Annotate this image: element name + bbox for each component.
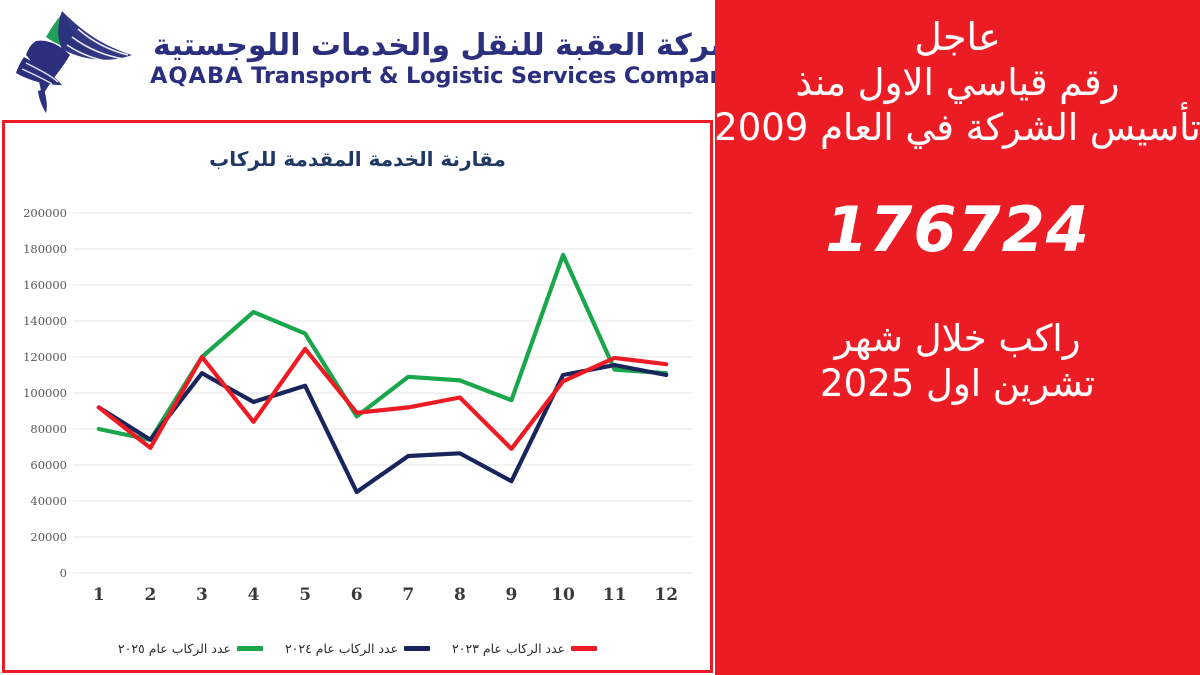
y-axis-tick-label: 60000 (5, 458, 67, 472)
headline-line-2: تأسيس الشركة في العام 2009 (714, 105, 1200, 150)
chart-plot-area: 2000001800001600001400001200001000008000… (5, 123, 710, 670)
chart-legend: عدد الركاب عام ٢٠٢٥عدد الركاب عام ٢٠٢٤عد… (5, 641, 710, 656)
urgent-label: عاجل (914, 14, 1001, 60)
brand-wordmark: شركة العقبة للنقل والخدمات اللوجستية AQA… (150, 31, 754, 88)
y-axis-tick-label: 40000 (5, 494, 67, 508)
legend-swatch-icon (237, 646, 263, 651)
x-axis-tick-label: 8 (440, 585, 480, 605)
y-axis-tick-label: 20000 (5, 530, 67, 544)
record-number: 176724 (825, 193, 1090, 266)
headline-line-1: رقم قياسي الاول منذ (796, 60, 1120, 105)
x-axis-tick-label: 2 (130, 585, 170, 605)
x-axis-tick-label: 4 (234, 585, 274, 605)
x-axis-tick-label: 3 (182, 585, 222, 605)
legend-item-0[interactable]: عدد الركاب عام ٢٠٢٥ (118, 641, 263, 656)
brand-header: شركة العقبة للنقل والخدمات اللوجستية AQA… (0, 0, 715, 118)
legend-label: عدد الركاب عام ٢٠٢٥ (118, 641, 231, 656)
legend-label: عدد الركاب عام ٢٠٢٤ (285, 641, 398, 656)
legend-swatch-icon (404, 646, 430, 651)
x-axis-tick-label: 10 (543, 585, 583, 605)
brand-name-english: AQABA Transport & Logistic Services Comp… (150, 65, 740, 88)
x-axis-tick-label: 11 (595, 585, 635, 605)
screenshot-root: شركة العقبة للنقل والخدمات اللوجستية AQA… (0, 0, 1200, 675)
chart-card: مقارنة الخدمة المقدمة للركاب 20000018000… (2, 120, 713, 673)
legend-item-2[interactable]: عدد الركاب عام ٢٠٢٣ (452, 641, 597, 656)
x-axis-tick-label: 6 (337, 585, 377, 605)
y-axis-tick-label: 180000 (5, 242, 67, 256)
y-axis-tick-label: 120000 (5, 350, 67, 364)
legend-item-1[interactable]: عدد الركاب عام ٢٠٢٤ (285, 641, 430, 656)
y-axis-tick-label: 160000 (5, 278, 67, 292)
y-axis-tick-label: 140000 (5, 314, 67, 328)
x-axis-tick-label: 1 (79, 585, 119, 605)
left-column: شركة العقبة للنقل والخدمات اللوجستية AQA… (0, 0, 715, 675)
footer-line-2: تشرين اول 2025 (820, 361, 1095, 406)
x-axis-tick-label: 7 (388, 585, 428, 605)
bird-logo-icon (0, 3, 150, 115)
footer-line-1: راكب خلال شهر (835, 316, 1081, 361)
announcement-panel: عاجل رقم قياسي الاول منذ تأسيس الشركة في… (715, 0, 1200, 675)
y-axis-tick-label: 80000 (5, 422, 67, 436)
legend-label: عدد الركاب عام ٢٠٢٣ (452, 641, 565, 656)
brand-name-arabic: شركة العقبة للنقل والخدمات اللوجستية (150, 31, 740, 61)
x-axis-tick-label: 12 (646, 585, 686, 605)
y-axis-tick-label: 0 (5, 566, 67, 580)
brand-name-english-prefix: AQABA (150, 63, 244, 89)
legend-swatch-icon (571, 646, 597, 651)
x-axis-tick-label: 5 (285, 585, 325, 605)
y-axis-tick-label: 200000 (5, 206, 67, 220)
y-axis-tick-label: 100000 (5, 386, 67, 400)
x-axis-tick-label: 9 (491, 585, 531, 605)
brand-name-english-rest: Transport & Logistic Services Company (244, 63, 740, 89)
